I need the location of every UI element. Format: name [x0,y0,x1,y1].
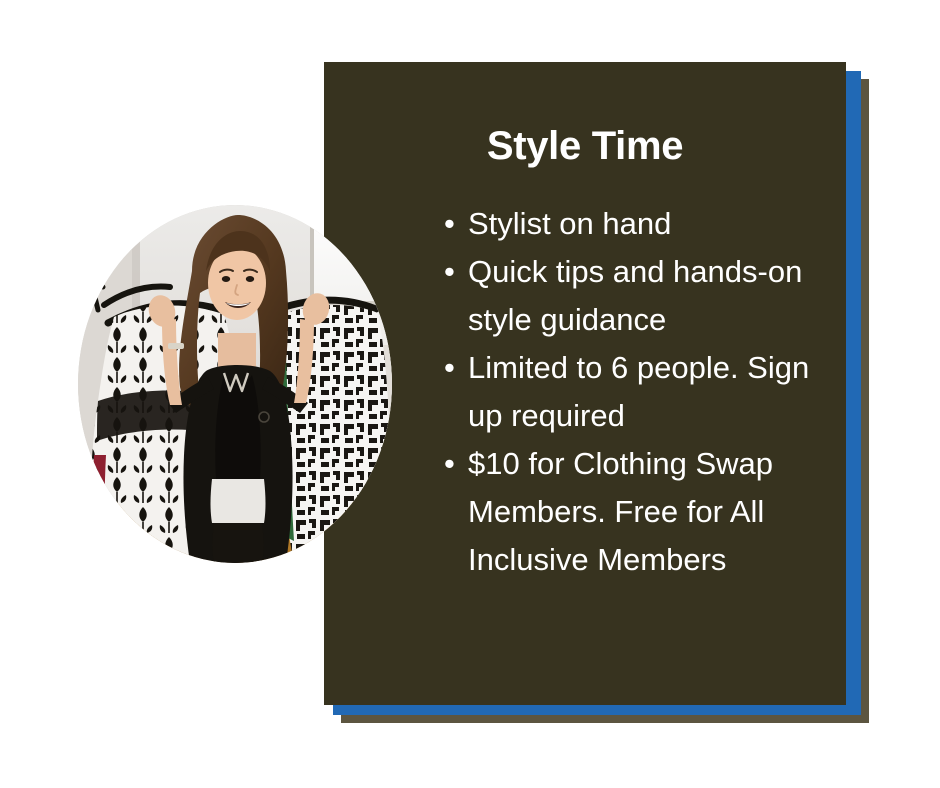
feature-bullet-list: • Stylist on hand • Quick tips and hands… [442,200,832,584]
page-title: Style Time [324,124,846,168]
poster-canvas: Style Time • Stylist on hand • Quick tip… [0,0,940,788]
list-item: • Stylist on hand [442,200,832,248]
list-item: • Limited to 6 people. Sign up required [442,344,832,440]
bullet-dot-icon: • [444,344,454,392]
bullet-dot-icon: • [444,200,454,248]
list-item-label: Limited to 6 people. Sign up required [468,344,832,440]
list-item: • Quick tips and hands-on style guidance [442,248,832,344]
stylist-photo [78,205,392,563]
stylist-photo-image [78,205,392,563]
list-item-label: Quick tips and hands-on style guidance [468,248,832,344]
bullet-dot-icon: • [444,248,454,296]
list-item-label: $10 for Clothing Swap Members. Free for … [468,440,832,584]
bullet-dot-icon: • [444,440,454,488]
stylist-photo-frame [78,205,392,563]
list-item: • $10 for Clothing Swap Members. Free fo… [442,440,832,584]
list-item-label: Stylist on hand [468,200,832,248]
panel-content: Style Time • Stylist on hand • Quick tip… [324,62,846,705]
